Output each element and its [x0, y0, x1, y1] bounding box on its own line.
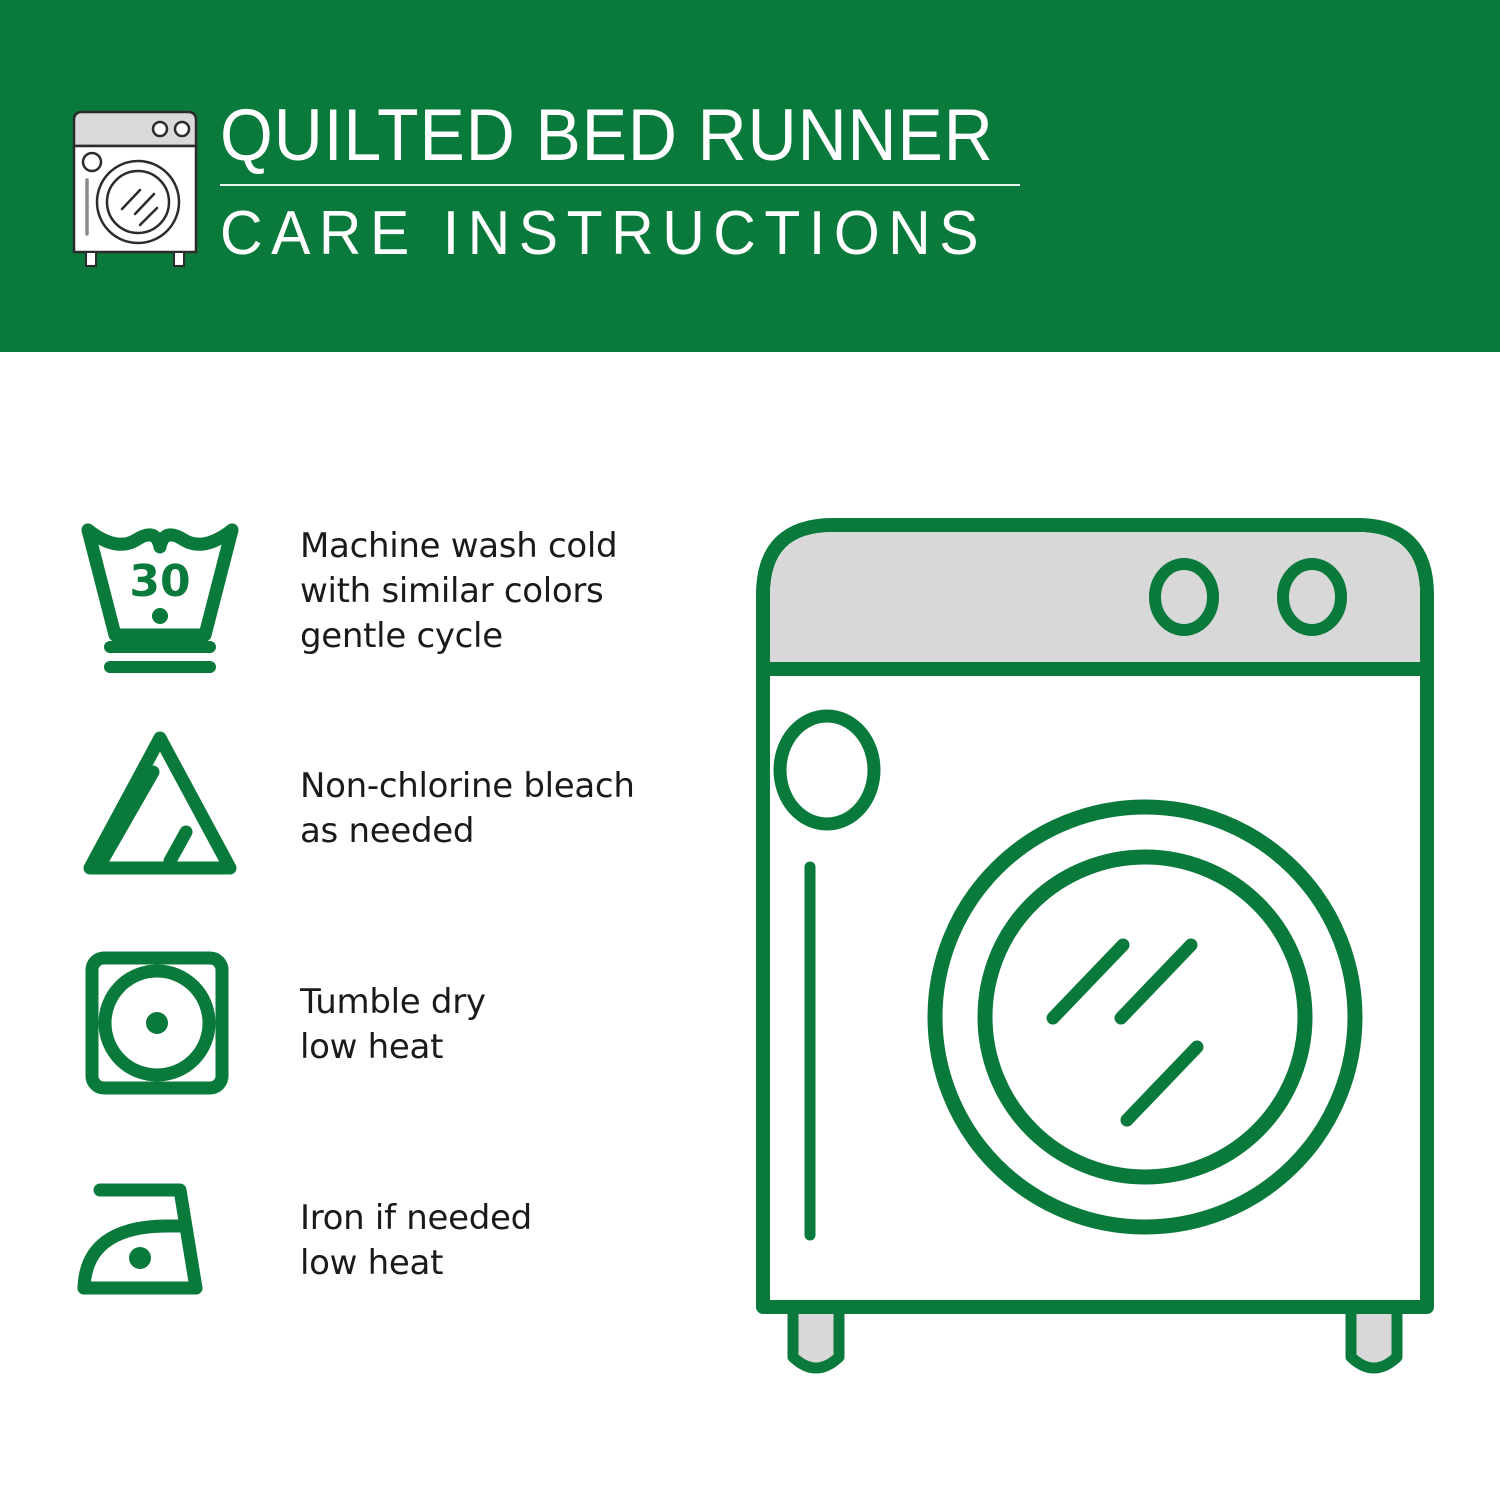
indicator-light	[780, 716, 874, 824]
care-text-iron: Iron if needed low heat	[300, 1196, 680, 1286]
care-instruction-list: 30 Machine wash cold with similar colors…	[70, 500, 690, 1380]
header-content: QUILTED BED RUNNER CARE INSTRUCTIONS	[60, 96, 1060, 276]
header-text: QUILTED BED RUNNER CARE INSTRUCTIONS	[220, 96, 1080, 268]
title-divider	[220, 184, 1020, 186]
care-row-bleach: Non-chlorine bleach as needed	[70, 720, 690, 940]
page-subtitle: CARE INSTRUCTIONS	[220, 200, 1037, 268]
front-load-washing-machine-illustration	[735, 495, 1455, 1415]
care-text-tumble-dry: Tumble dry low heat	[300, 980, 680, 1070]
header-banner: QUILTED BED RUNNER CARE INSTRUCTIONS	[0, 0, 1500, 352]
tumble-dry-low-heat-icon	[70, 940, 250, 1115]
care-instructions-page: QUILTED BED RUNNER CARE INSTRUCTIONS 30	[0, 0, 1500, 1500]
care-row-wash: 30 Machine wash cold with similar colors…	[70, 500, 690, 720]
wash-temperature-value: 30	[129, 556, 190, 607]
wash-tub-30-gentle-icon: 30	[70, 500, 250, 675]
care-text-bleach: Non-chlorine bleach as needed	[300, 764, 680, 854]
iron-low-heat-icon	[70, 1160, 250, 1335]
non-chlorine-bleach-triangle-icon	[70, 720, 250, 895]
washing-machine-icon	[60, 106, 210, 271]
care-text-wash: Machine wash cold with similar colors ge…	[300, 524, 680, 659]
care-row-iron: Iron if needed low heat	[70, 1160, 690, 1380]
page-title: QUILTED BED RUNNER	[220, 96, 1020, 176]
control-knob-right	[1283, 564, 1341, 630]
control-knob-left	[1155, 564, 1213, 630]
care-row-tumble-dry: Tumble dry low heat	[70, 940, 690, 1160]
